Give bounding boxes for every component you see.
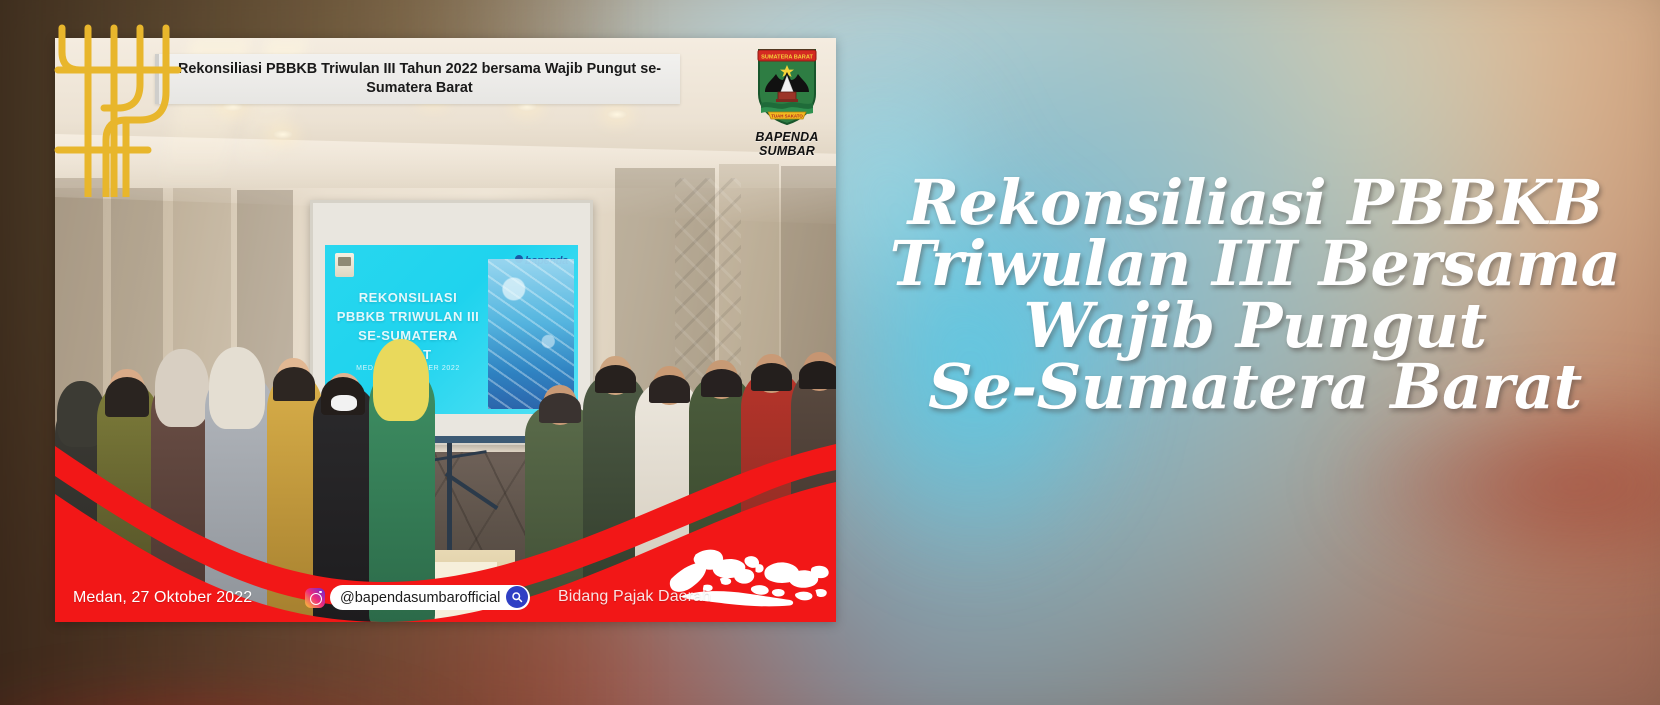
- person-hair: [649, 375, 690, 403]
- emblem-banner-text: SUMATERA BARAT: [761, 55, 813, 61]
- headline-line-2: Triwulan III Bersama: [860, 233, 1650, 294]
- headline-line-3: Wajib Pungut: [860, 295, 1650, 356]
- province-emblem-block: SUMATERA BARAT TUAH SAKATO BAPENDA SUMBA…: [735, 46, 839, 158]
- person-headscarf: [209, 347, 265, 429]
- person-headscarf: [373, 339, 429, 421]
- verified-badge-icon: [506, 586, 528, 608]
- face-mask: [331, 395, 357, 411]
- person-hair: [595, 365, 636, 393]
- poster-headline: Rekonsiliasi PBBKB Triwulan III Bersama …: [860, 172, 1650, 418]
- footer-department: Bidang Pajak Daerah: [558, 588, 711, 606]
- person-hair: [105, 377, 149, 417]
- instagram-handle-box[interactable]: @bapendasumbarofficial: [330, 585, 530, 610]
- person-hair: [701, 369, 742, 397]
- footer-date-place: Medan, 27 Oktober 2022: [73, 589, 252, 607]
- emblem-caption: BAPENDA SUMBAR: [735, 130, 839, 158]
- instagram-handle-text: @bapendasumbarofficial: [340, 590, 500, 606]
- sumatera-barat-emblem-icon: SUMATERA BARAT TUAH SAKATO: [756, 46, 818, 126]
- gold-line-ornament: [48, 22, 238, 197]
- person-hair: [799, 361, 836, 389]
- slide-emblem-icon: [335, 253, 354, 277]
- instagram-icon: [305, 588, 325, 608]
- person-hair: [273, 367, 315, 401]
- person-hair: [539, 393, 581, 423]
- person-hair: [751, 363, 792, 391]
- person-headscarf: [155, 349, 209, 427]
- ceiling-light: [273, 130, 293, 139]
- headline-line-4: Se-Sumatera Barat: [860, 356, 1650, 417]
- ceiling-light: [607, 110, 627, 119]
- emblem-ribbon-text: TUAH SAKATO: [771, 113, 803, 118]
- instagram-handle-pill[interactable]: @bapendasumbarofficial: [305, 584, 530, 611]
- headline-line-1: Rekonsiliasi PBBKB: [860, 172, 1650, 233]
